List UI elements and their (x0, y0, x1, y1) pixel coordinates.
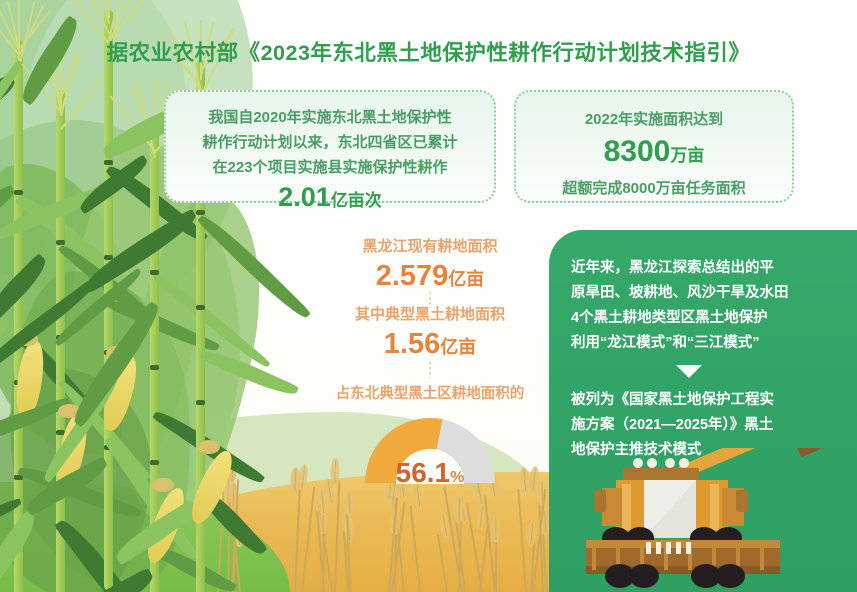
down-triangle-icon (676, 365, 702, 378)
card-left-line-3: 在223个项目实施县实施保护性耕作 (166, 155, 494, 180)
corn-stalk-node (150, 365, 159, 370)
gauge-label: 占东北典型黑土区耕地面积的 (300, 383, 560, 405)
corn-stalk-node (196, 305, 205, 310)
corn-tassel (108, 0, 110, 18)
corn-stalk-node (14, 190, 23, 195)
gauge-value: 56.1 (396, 457, 451, 488)
stat-1-value: 2.579 (376, 260, 449, 292)
card-left-highlight: 2.01亿亩次 (166, 180, 494, 218)
gauge-value-group: 56.1% (365, 458, 495, 493)
corn-silk (198, 440, 220, 454)
card-right-unit: 万亩 (670, 146, 704, 165)
card-right-value: 8300 (604, 135, 671, 168)
card-right-highlight: 8300万亩 (516, 132, 792, 176)
corn-silk (152, 478, 174, 492)
card-right-lead: 2022年实施面积达到 (516, 107, 792, 132)
card-left-value: 2.01 (278, 182, 331, 212)
green-panel-p2-line-1: 被列为《国家黑土地保护工程实 (571, 388, 837, 413)
harvester-svg (586, 448, 846, 592)
green-panel-p1-line-2: 原旱田、坡耕地、风沙干旱及水田 (571, 281, 837, 306)
corn-stalk-node (150, 460, 159, 465)
card-left-line-2: 耕作行动计划以来，东北四省区已累计 (166, 130, 494, 155)
card-left-line-1: 我国自2020年实施东北黑土地保护性 (166, 105, 494, 130)
stat-1-unit: 亿亩 (448, 269, 484, 289)
page-title: 据农业农村部《2023年东北黑土地保护性耕作行动计划技术指引》 (0, 36, 857, 67)
combine-harvester-illustration (586, 448, 846, 592)
green-panel-p2-line-2: 施方案（2021—2025年）》黑土 (571, 413, 837, 438)
stat-2-value-group: 1.56亿亩 (300, 326, 560, 365)
green-panel-p1-line-1: 近年来，黑龙江探索总结出的平 (571, 256, 837, 281)
2022-area-card: 2022年实施面积达到 8300万亩 超额完成8000万亩任务面积 (514, 90, 794, 203)
corn-stalk-node (56, 240, 65, 245)
corn-stalk-node (196, 400, 205, 405)
corn-stalk-node (104, 160, 113, 165)
green-panel-p1-line-3: 4个黑土耕地类型区黑土地保护 (571, 306, 837, 331)
card-right-footer: 超额完成8000万亩任务面积 (516, 176, 792, 201)
wheat-head (491, 516, 500, 542)
stat-1-label: 黑龙江现有耕地面积 (300, 236, 560, 258)
infographic-canvas: 据农业农村部《2023年东北黑土地保护性耕作行动计划技术指引》 我国自2020年… (0, 0, 857, 592)
stat-2-unit: 亿亩 (440, 337, 476, 357)
stat-typical-blacksoil: 其中典型黑土耕地面积 1.56亿亩 (300, 304, 560, 365)
corn-stalk (14, 40, 23, 592)
stat-heilongjiang-arable: 黑龙江现有耕地面积 2.579亿亩 (300, 236, 560, 297)
cumulative-area-card: 我国自2020年实施东北黑土地保护性 耕作行动计划以来，东北四省区已累计 在22… (164, 90, 496, 203)
gauge-percent-symbol: % (450, 469, 464, 486)
wheat-head (454, 497, 464, 523)
stat-2-label: 其中典型黑土耕地面积 (300, 304, 560, 326)
green-panel-p1-line-4: 利用“龙江模式”和“三江模式” (571, 331, 837, 356)
connector-dots-2 (429, 362, 431, 378)
card-left-unit: 亿亩次 (331, 191, 382, 210)
gauge-label-group: 占东北典型黑土区耕地面积的 (300, 383, 560, 405)
stat-2-value: 1.56 (384, 328, 440, 360)
